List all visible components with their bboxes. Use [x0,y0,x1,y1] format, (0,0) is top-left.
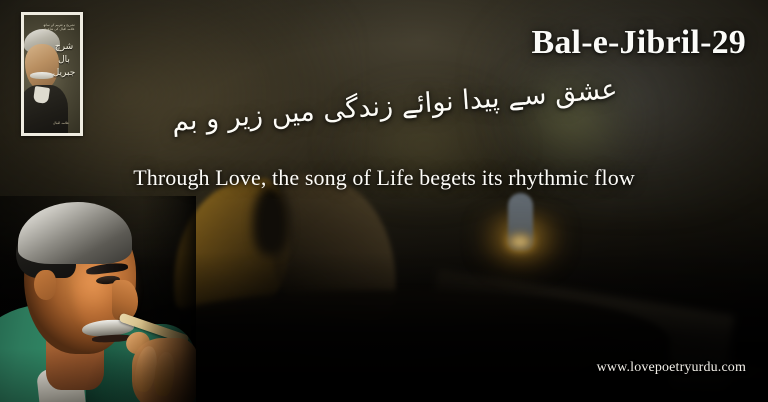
allama-iqbal-portrait [0,196,196,402]
candle-flame-glow [505,232,535,252]
english-translation: Through Love, the song of Life begets it… [0,165,768,191]
page-title: Bal-e-Jibril-29 [531,24,746,62]
book-cover-title-line-3: جبریل [51,67,77,80]
website-url[interactable]: www.lovepoetryurdu.com [597,360,746,376]
book-cover-title-line-1: شرح [51,41,77,54]
book-cover-title: شرح بال جبریل [51,41,77,80]
book-cover-title-line-2: بال [51,54,77,67]
poetry-poster: تشریح و تفہیم کے ساتھ علامہ اقبال کی شاع… [0,0,768,402]
book-cover-artwork: تشریح و تفہیم کے ساتھ علامہ اقبال کی شاع… [24,15,80,133]
heart-notch [253,186,289,256]
book-cover-author: علامہ اقبال [46,121,76,126]
book-cover-thumbnail[interactable]: تشریح و تفہیم کے ساتھ علامہ اقبال کی شاع… [21,12,83,136]
portrait-ear [34,270,56,300]
book-cover-top-text: تشریح و تفہیم کے ساتھ علامہ اقبال کی شاع… [41,23,77,32]
